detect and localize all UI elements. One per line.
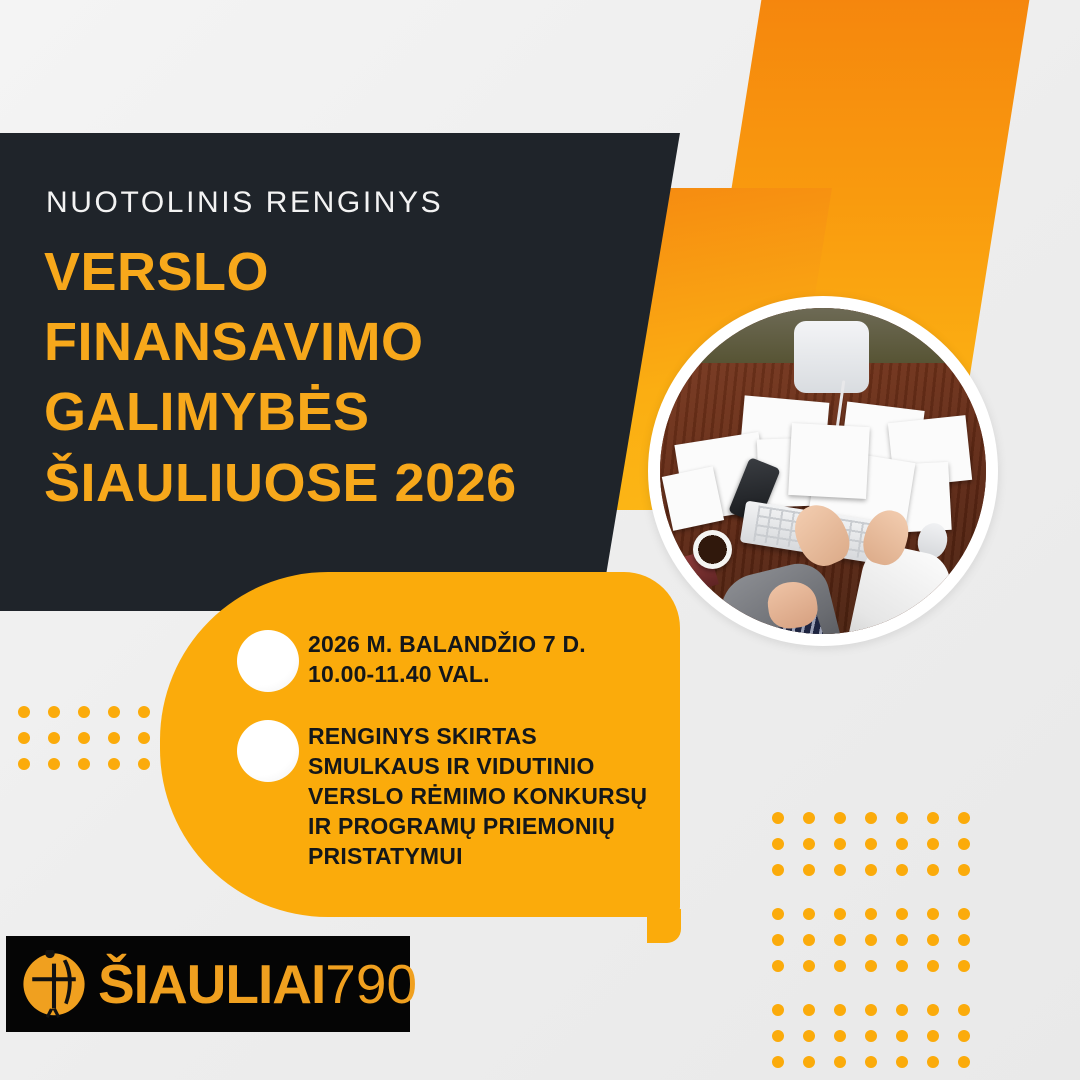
photo-circle-frame xyxy=(648,296,998,646)
dot-icon xyxy=(48,732,60,744)
dot-icon xyxy=(803,864,815,876)
dot-icon xyxy=(772,908,784,920)
dot-grid-right-2 xyxy=(772,908,989,986)
dot-icon xyxy=(803,934,815,946)
dot-icon xyxy=(927,1030,939,1042)
dot-icon xyxy=(865,812,877,824)
dot-icon xyxy=(865,1056,877,1068)
dot-icon xyxy=(958,960,970,972)
poster-canvas: NUOTOLINIS RENGINYS VERSLO FINANSAVIMO G… xyxy=(0,0,1080,1080)
dot-icon xyxy=(772,838,784,850)
page-title-line-2: FINANSAVIMO xyxy=(44,307,517,377)
dot-icon xyxy=(772,960,784,972)
dot-icon xyxy=(803,1030,815,1042)
dot-icon xyxy=(927,960,939,972)
bullet-dot-icon xyxy=(237,630,299,692)
dot-icon xyxy=(958,864,970,876)
dot-icon xyxy=(896,934,908,946)
dot-icon xyxy=(834,838,846,850)
dot-icon xyxy=(834,934,846,946)
dot-icon xyxy=(896,960,908,972)
event-datetime-text: 2026 M. BALANDŽIO 7 D. 10.00-11.40 VAL. xyxy=(308,630,586,690)
dot-icon xyxy=(958,1004,970,1016)
dot-icon xyxy=(865,864,877,876)
dot-icon xyxy=(896,908,908,920)
event-time-line: 10.00-11.40 VAL. xyxy=(308,660,586,690)
dot-grid-right-1 xyxy=(772,812,989,890)
siauliai-wordmark: ŠIAULIAI 790 xyxy=(98,957,417,1012)
dot-icon xyxy=(834,1004,846,1016)
dot-icon xyxy=(896,864,908,876)
logo-city-name: ŠIAULIAI xyxy=(98,957,325,1012)
dot-icon xyxy=(865,1004,877,1016)
dot-icon xyxy=(958,1056,970,1068)
dot-icon xyxy=(958,1030,970,1042)
dot-icon xyxy=(865,1030,877,1042)
dot-icon xyxy=(772,812,784,824)
dot-icon xyxy=(865,908,877,920)
event-description-text: RENGINYS SKIRTAS SMULKAUS IR VIDUTINIO V… xyxy=(308,722,647,871)
dot-icon xyxy=(48,758,60,770)
dot-icon xyxy=(896,838,908,850)
page-title: VERSLO FINANSAVIMO GALIMYBĖS ŠIAULIUOSE … xyxy=(44,237,517,518)
dot-icon xyxy=(865,960,877,972)
dot-icon xyxy=(78,732,90,744)
dot-icon xyxy=(927,934,939,946)
siauliai-logo-bar: ŠIAULIAI 790 xyxy=(6,936,410,1032)
dot-icon xyxy=(138,706,150,718)
event-description-line-4: IR PROGRAMŲ PRIEMONIŲ xyxy=(308,812,647,842)
dot-icon xyxy=(834,908,846,920)
dot-icon xyxy=(18,758,30,770)
dot-icon xyxy=(772,934,784,946)
dot-icon xyxy=(927,908,939,920)
dot-icon xyxy=(865,838,877,850)
business-analytics-photo xyxy=(660,308,986,634)
dot-grid-left xyxy=(18,706,168,784)
document-page xyxy=(789,423,871,499)
dot-icon xyxy=(108,758,120,770)
dot-icon xyxy=(803,1004,815,1016)
dot-icon xyxy=(834,1030,846,1042)
event-description-line-2: SMULKAUS IR VIDUTINIO xyxy=(308,752,647,782)
dot-icon xyxy=(896,1056,908,1068)
dot-icon xyxy=(78,758,90,770)
dot-grid-right-3 xyxy=(772,1004,989,1080)
dot-icon xyxy=(803,1056,815,1068)
document-page xyxy=(661,466,724,531)
dot-icon xyxy=(834,812,846,824)
dot-icon xyxy=(138,732,150,744)
dot-icon xyxy=(803,960,815,972)
dot-icon xyxy=(834,864,846,876)
dot-icon xyxy=(18,732,30,744)
event-date-line: 2026 M. BALANDŽIO 7 D. xyxy=(308,630,586,660)
dot-icon xyxy=(865,934,877,946)
event-description-line-5: PRISTATYMUI xyxy=(308,842,647,872)
dot-icon xyxy=(834,1056,846,1068)
dot-icon xyxy=(958,838,970,850)
dot-icon xyxy=(896,812,908,824)
page-title-line-1: VERSLO xyxy=(44,237,517,307)
dot-icon xyxy=(803,812,815,824)
dot-icon xyxy=(958,812,970,824)
page-title-line-4: ŠIAULIUOSE 2026 xyxy=(44,448,517,518)
dot-icon xyxy=(927,812,939,824)
dot-icon xyxy=(772,1030,784,1042)
dot-icon xyxy=(927,838,939,850)
dot-icon xyxy=(108,732,120,744)
dot-icon xyxy=(803,838,815,850)
dot-icon xyxy=(927,1004,939,1016)
dot-icon xyxy=(803,908,815,920)
dot-icon xyxy=(48,706,60,718)
dot-icon xyxy=(18,706,30,718)
bullet-dot-icon xyxy=(237,720,299,782)
dot-icon xyxy=(896,1030,908,1042)
dot-icon xyxy=(108,706,120,718)
dot-icon xyxy=(772,1004,784,1016)
dot-icon xyxy=(78,706,90,718)
dot-icon xyxy=(958,934,970,946)
dot-icon xyxy=(927,1056,939,1068)
event-description-line-1: RENGINYS SKIRTAS xyxy=(308,722,647,752)
dot-icon xyxy=(138,758,150,770)
dot-icon xyxy=(958,908,970,920)
dot-icon xyxy=(772,1056,784,1068)
dot-icon xyxy=(896,1004,908,1016)
logo-anniversary-number: 790 xyxy=(325,957,417,1012)
headline-panel: NUOTOLINIS RENGINYS VERSLO FINANSAVIMO G… xyxy=(0,133,700,611)
page-title-line-3: GALIMYBĖS xyxy=(44,377,517,447)
monitor-stand-icon xyxy=(794,321,869,393)
coffee-cup-icon xyxy=(693,530,732,569)
siauliai-archer-sun-icon xyxy=(20,950,88,1018)
event-description-line-3: VERSLO RĖMIMO KONKURSŲ xyxy=(308,782,647,812)
dot-icon xyxy=(772,864,784,876)
dot-icon xyxy=(834,960,846,972)
details-speech-bubble: 2026 M. BALANDŽIO 7 D. 10.00-11.40 VAL. … xyxy=(160,572,680,917)
eyebrow-label: NUOTOLINIS RENGINYS xyxy=(46,186,443,220)
dot-icon xyxy=(927,864,939,876)
